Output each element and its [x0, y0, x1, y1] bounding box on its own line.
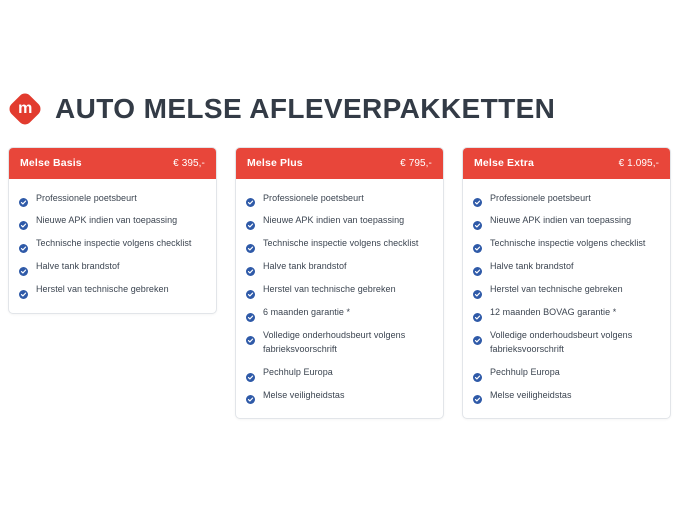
list-item: Volledige onderhoudsbeurt volgens fabrie…: [473, 325, 660, 362]
feature-label: Professionele poetsbeurt: [263, 192, 364, 206]
list-item: Pechhulp Europa: [246, 362, 433, 385]
feature-label: Professionele poetsbeurt: [490, 192, 591, 206]
check-circle-icon: [246, 309, 255, 318]
feature-label: Volledige onderhoudsbeurt volgens fabrie…: [263, 329, 433, 357]
list-item: Halve tank brandstof: [246, 256, 433, 279]
check-circle-icon: [473, 194, 482, 203]
check-circle-icon: [246, 263, 255, 272]
package-feature-list: Professionele poetsbeurtNieuwe APK indie…: [463, 179, 670, 418]
feature-label: Herstel van technische gebreken: [490, 283, 623, 297]
list-item: Volledige onderhoudsbeurt volgens fabrie…: [246, 325, 433, 362]
list-item: Professionele poetsbeurt: [473, 187, 660, 210]
list-item: Herstel van technische gebreken: [473, 279, 660, 302]
check-circle-icon: [19, 217, 28, 226]
package-feature-list: Professionele poetsbeurtNieuwe APK indie…: [9, 179, 216, 313]
feature-label: Halve tank brandstof: [490, 260, 574, 274]
check-circle-icon: [473, 332, 482, 341]
feature-label: Volledige onderhoudsbeurt volgens fabrie…: [490, 329, 660, 357]
feature-label: Herstel van technische gebreken: [36, 283, 169, 297]
check-circle-icon: [246, 369, 255, 378]
list-item: Technische inspectie volgens checklist: [246, 233, 433, 256]
feature-label: Herstel van technische gebreken: [263, 283, 396, 297]
package-card: Melse Plus€ 795,-Professionele poetsbeur…: [235, 147, 444, 419]
package-card-header: Melse Extra€ 1.095,-: [463, 148, 670, 179]
feature-label: 6 maanden garantie *: [263, 306, 350, 320]
check-circle-icon: [473, 286, 482, 295]
check-circle-icon: [473, 217, 482, 226]
list-item: Herstel van technische gebreken: [246, 279, 433, 302]
list-item: Halve tank brandstof: [473, 256, 660, 279]
list-item: Melse veiligheidstas: [246, 384, 433, 407]
package-price: € 395,-: [173, 159, 205, 169]
check-circle-icon: [246, 286, 255, 295]
package-card-list: Melse Basis€ 395,-Professionele poetsbeu…: [8, 147, 677, 419]
feature-label: 12 maanden BOVAG garantie *: [490, 306, 616, 320]
feature-label: Pechhulp Europa: [490, 366, 560, 380]
check-circle-icon: [19, 194, 28, 203]
package-card: Melse Extra€ 1.095,-Professionele poetsb…: [462, 147, 671, 419]
package-card-header: Melse Plus€ 795,-: [236, 148, 443, 179]
melse-diamond-logo-icon: m: [8, 92, 42, 126]
feature-label: Pechhulp Europa: [263, 366, 333, 380]
list-item: Technische inspectie volgens checklist: [473, 233, 660, 256]
check-circle-icon: [246, 332, 255, 341]
package-card: Melse Basis€ 395,-Professionele poetsbeu…: [8, 147, 217, 314]
list-item: Nieuwe APK indien van toepassing: [473, 210, 660, 233]
feature-label: Nieuwe APK indien van toepassing: [36, 214, 177, 228]
check-circle-icon: [19, 286, 28, 295]
check-circle-icon: [19, 263, 28, 272]
feature-label: Professionele poetsbeurt: [36, 192, 137, 206]
list-item: Professionele poetsbeurt: [246, 187, 433, 210]
list-item: Melse veiligheidstas: [473, 384, 660, 407]
check-circle-icon: [246, 240, 255, 249]
package-feature-list: Professionele poetsbeurtNieuwe APK indie…: [236, 179, 443, 418]
list-item: 12 maanden BOVAG garantie *: [473, 302, 660, 325]
list-item: Halve tank brandstof: [19, 256, 206, 279]
check-circle-icon: [473, 309, 482, 318]
package-price: € 795,-: [400, 159, 432, 169]
feature-label: Technische inspectie volgens checklist: [36, 237, 191, 251]
check-circle-icon: [246, 391, 255, 400]
feature-label: Melse veiligheidstas: [490, 389, 572, 403]
logo-letter: m: [8, 92, 42, 126]
check-circle-icon: [473, 240, 482, 249]
feature-label: Technische inspectie volgens checklist: [490, 237, 645, 251]
check-circle-icon: [473, 369, 482, 378]
feature-label: Halve tank brandstof: [36, 260, 120, 274]
check-circle-icon: [246, 194, 255, 203]
check-circle-icon: [473, 263, 482, 272]
feature-label: Melse veiligheidstas: [263, 389, 345, 403]
list-item: Herstel van technische gebreken: [19, 279, 206, 302]
list-item: 6 maanden garantie *: [246, 302, 433, 325]
package-name: Melse Basis: [20, 158, 82, 169]
package-name: Melse Extra: [474, 158, 534, 169]
package-name: Melse Plus: [247, 158, 303, 169]
list-item: Pechhulp Europa: [473, 362, 660, 385]
feature-label: Halve tank brandstof: [263, 260, 347, 274]
afleverpakketten-page: m AUTO MELSE AFLEVERPAKKETTEN Melse Basi…: [0, 0, 685, 514]
check-circle-icon: [246, 217, 255, 226]
list-item: Nieuwe APK indien van toepassing: [246, 210, 433, 233]
list-item: Technische inspectie volgens checklist: [19, 233, 206, 256]
check-circle-icon: [19, 240, 28, 249]
list-item: Nieuwe APK indien van toepassing: [19, 210, 206, 233]
page-title: AUTO MELSE AFLEVERPAKKETTEN: [55, 95, 555, 123]
page-header: m AUTO MELSE AFLEVERPAKKETTEN: [8, 92, 555, 126]
package-price: € 1.095,-: [619, 159, 659, 169]
check-circle-icon: [473, 391, 482, 400]
feature-label: Technische inspectie volgens checklist: [263, 237, 418, 251]
feature-label: Nieuwe APK indien van toepassing: [263, 214, 404, 228]
list-item: Professionele poetsbeurt: [19, 187, 206, 210]
feature-label: Nieuwe APK indien van toepassing: [490, 214, 631, 228]
package-card-header: Melse Basis€ 395,-: [9, 148, 216, 179]
